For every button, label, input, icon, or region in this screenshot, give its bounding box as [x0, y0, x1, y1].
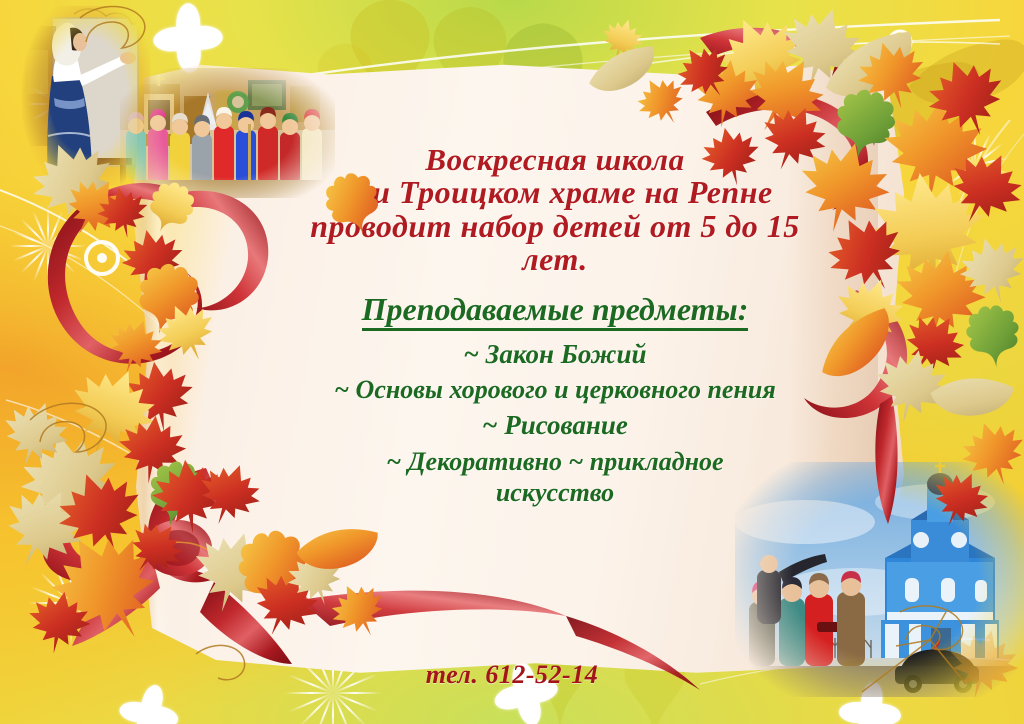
headline-line-4: лет. [255, 244, 855, 275]
subject-item-3: ~ Рисование [255, 410, 855, 441]
phone-number: тел. 612-52-14 [0, 660, 1024, 690]
subject-item-4-line-2: искусство [255, 478, 855, 509]
flower-icon-bottom-left [125, 690, 173, 724]
starburst-icon-right [940, 130, 1010, 200]
poster-text-block: Воскресная школа при Троицком храме на Р… [255, 145, 855, 508]
headline: Воскресная школа при Троицком храме на Р… [255, 145, 855, 275]
subject-item-4-line-1: ~ Декоративно ~ прикладное [386, 447, 723, 476]
headline-line-2: при Троицком храме на Репне [255, 177, 855, 208]
subjects-title: Преподаваемые предметы: [362, 293, 749, 331]
starburst-icon-bottom-left [28, 560, 114, 646]
subjects-title-wrap: Преподаваемые предметы: [255, 277, 855, 331]
background-leaf-silhouette-6 [905, 18, 1024, 118]
subject-item-4: ~ Декоративно ~ прикладное искусство [255, 447, 855, 508]
starburst-icon-left [10, 208, 86, 284]
poster-canvas: Воскресная школа при Троицком храме на Р… [0, 0, 1024, 724]
subject-item-2: ~ Основы хорового и церковного пения [255, 375, 855, 405]
headline-line-3: проводит набор детей от 5 до 15 [255, 211, 855, 242]
headline-line-1: Воскресная школа [255, 145, 855, 175]
flower-icon-top [160, 10, 216, 66]
subject-item-1: ~ Закон Божий [255, 339, 855, 370]
